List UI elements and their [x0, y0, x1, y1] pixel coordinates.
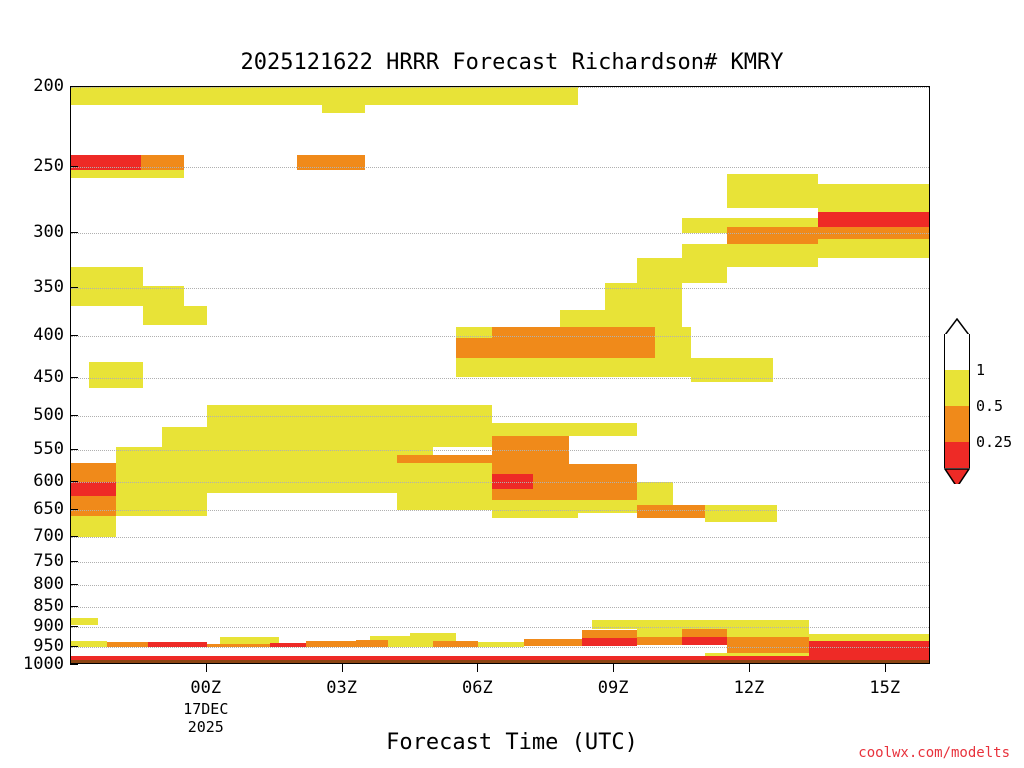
y-tick-mark [70, 561, 78, 562]
heatmap-cell [533, 464, 637, 488]
grid-line [71, 87, 929, 88]
heatmap-cell [71, 647, 524, 653]
y-tick-label: 800 [33, 574, 64, 594]
heatmap-cell [705, 505, 777, 523]
colorbar-segment [944, 442, 970, 468]
grid-line [71, 378, 929, 379]
y-tick-label: 450 [33, 367, 64, 387]
heatmap-cell [71, 267, 143, 286]
heatmap-cell [582, 630, 636, 638]
x-tick-mark [749, 664, 750, 672]
heatmap-plot-area [70, 86, 930, 664]
chart-title: 2025121622 HRRR Forecast Richardson# KMR… [0, 50, 1024, 75]
heatmap-cell [682, 637, 727, 645]
heatmap-cell [71, 170, 184, 178]
y-tick-label: 300 [33, 222, 64, 242]
y-tick-label: 400 [33, 325, 64, 345]
x-tick-label: 09Z [598, 678, 629, 698]
y-tick-mark [70, 509, 78, 510]
heatmap-cell [71, 660, 930, 664]
heatmap-cell [116, 463, 161, 493]
grid-line [71, 510, 929, 511]
x-tick-label: 06Z [462, 678, 493, 698]
heatmap-cell [410, 633, 455, 641]
y-tick-label: 650 [33, 499, 64, 519]
y-tick-label: 500 [33, 405, 64, 425]
y-tick-mark [70, 626, 78, 627]
heatmap-cell [809, 634, 930, 641]
grid-line [71, 288, 929, 289]
y-tick-mark [70, 287, 78, 288]
x-tick-mark [885, 664, 886, 672]
heatmap-cell [71, 496, 116, 516]
grid-line [71, 562, 929, 563]
y-tick-mark [70, 232, 78, 233]
y-tick-mark [70, 646, 78, 647]
heatmap-cell [116, 493, 207, 515]
y-tick-label: 700 [33, 526, 64, 546]
heatmap-cell [727, 637, 808, 646]
y-tick-mark [70, 415, 78, 416]
colorbar-bottom-cap [944, 468, 970, 484]
heatmap-cell [818, 239, 930, 258]
heatmap-cell [356, 640, 388, 647]
heatmap-cell [71, 618, 98, 625]
heatmap-cell [818, 212, 899, 227]
y-tick-label: 950 [33, 636, 64, 656]
credit-label: coolwx.com/modelts [858, 745, 1010, 761]
y-tick-label: 900 [33, 616, 64, 636]
y-tick-mark [70, 377, 78, 378]
heatmap-cell [727, 629, 808, 637]
heatmap-cell [727, 227, 818, 245]
colorbar-segment [944, 370, 970, 406]
y-tick-label: 600 [33, 471, 64, 491]
grid-line [71, 336, 929, 337]
heatmap-cell [899, 212, 930, 227]
grid-line [71, 482, 929, 483]
colorbar-segment [944, 334, 970, 370]
y-tick-mark [70, 606, 78, 607]
heatmap-cell [524, 639, 583, 646]
x-tick-mark [613, 664, 614, 672]
grid-line [71, 647, 929, 648]
colorbar-segment [944, 406, 970, 442]
heatmap-cell [605, 283, 682, 310]
x-tick-mark [342, 664, 343, 672]
heatmap-cell [727, 174, 818, 208]
colorbar-label: 1 [976, 361, 985, 379]
heatmap-cell [322, 86, 365, 113]
colorbar-label: 0.25 [976, 433, 1012, 451]
grid-line [71, 416, 929, 417]
y-tick-mark [70, 536, 78, 537]
y-tick-label: 250 [33, 156, 64, 176]
grid-line [71, 233, 929, 234]
y-tick-mark [70, 481, 78, 482]
grid-line [71, 607, 929, 608]
heatmap-cell [809, 647, 930, 656]
x-tick-label: 12Z [734, 678, 765, 698]
x-tick-mark [206, 664, 207, 672]
heatmap-cell [637, 482, 673, 505]
heatmap-cell [397, 493, 492, 510]
heatmap-cell [456, 358, 691, 377]
heatmap-cell [492, 423, 637, 435]
y-tick-label: 550 [33, 439, 64, 459]
heatmap-cell [492, 489, 637, 501]
chart-page: 2025121622 HRRR Forecast Richardson# KMR… [0, 0, 1024, 768]
heatmap-cell [162, 427, 492, 447]
heatmap-cell [71, 482, 116, 497]
y-tick-mark [70, 86, 78, 87]
y-tick-label: 350 [33, 277, 64, 297]
heatmap-cell [71, 463, 116, 481]
heatmap-cell [89, 362, 143, 388]
y-tick-label: 1000 [23, 654, 64, 674]
y-tick-mark [70, 664, 78, 665]
colorbar: 10.50.25 [944, 318, 970, 478]
y-tick-label: 200 [33, 76, 64, 96]
x-tick-label: 00Z [190, 678, 221, 698]
heatmap-cell [637, 505, 705, 519]
heatmap-cell [655, 327, 691, 358]
y-tick-mark [70, 584, 78, 585]
grid-line [71, 537, 929, 538]
heatmap-cell [582, 638, 636, 646]
y-tick-label: 750 [33, 551, 64, 571]
heatmap-cell [207, 463, 492, 493]
y-tick-mark [70, 166, 78, 167]
grid-line [71, 585, 929, 586]
heatmap-cell [682, 629, 727, 637]
grid-line [71, 167, 929, 168]
colorbar-top-cap [944, 318, 970, 334]
y-tick-mark [70, 335, 78, 336]
x-tick-label: 15Z [869, 678, 900, 698]
heatmap-cell [143, 306, 206, 325]
heatmap-cell [818, 184, 930, 212]
heatmap-cell [637, 637, 682, 645]
heatmap-cell [637, 258, 728, 283]
grid-line [71, 627, 929, 628]
heatmap-cell [71, 516, 116, 537]
heatmap-cell [456, 338, 655, 358]
heatmap-cell [492, 464, 533, 474]
x-tick-label: 03Z [326, 678, 357, 698]
y-tick-mark [70, 449, 78, 450]
grid-line [71, 450, 929, 451]
colorbar-label: 0.5 [976, 397, 1003, 415]
heatmap-cell [637, 629, 682, 637]
x-axis-date-label: 17DEC 2025 [183, 700, 228, 736]
y-tick-label: 850 [33, 596, 64, 616]
heatmap-cell [162, 463, 207, 493]
x-tick-mark [477, 664, 478, 672]
